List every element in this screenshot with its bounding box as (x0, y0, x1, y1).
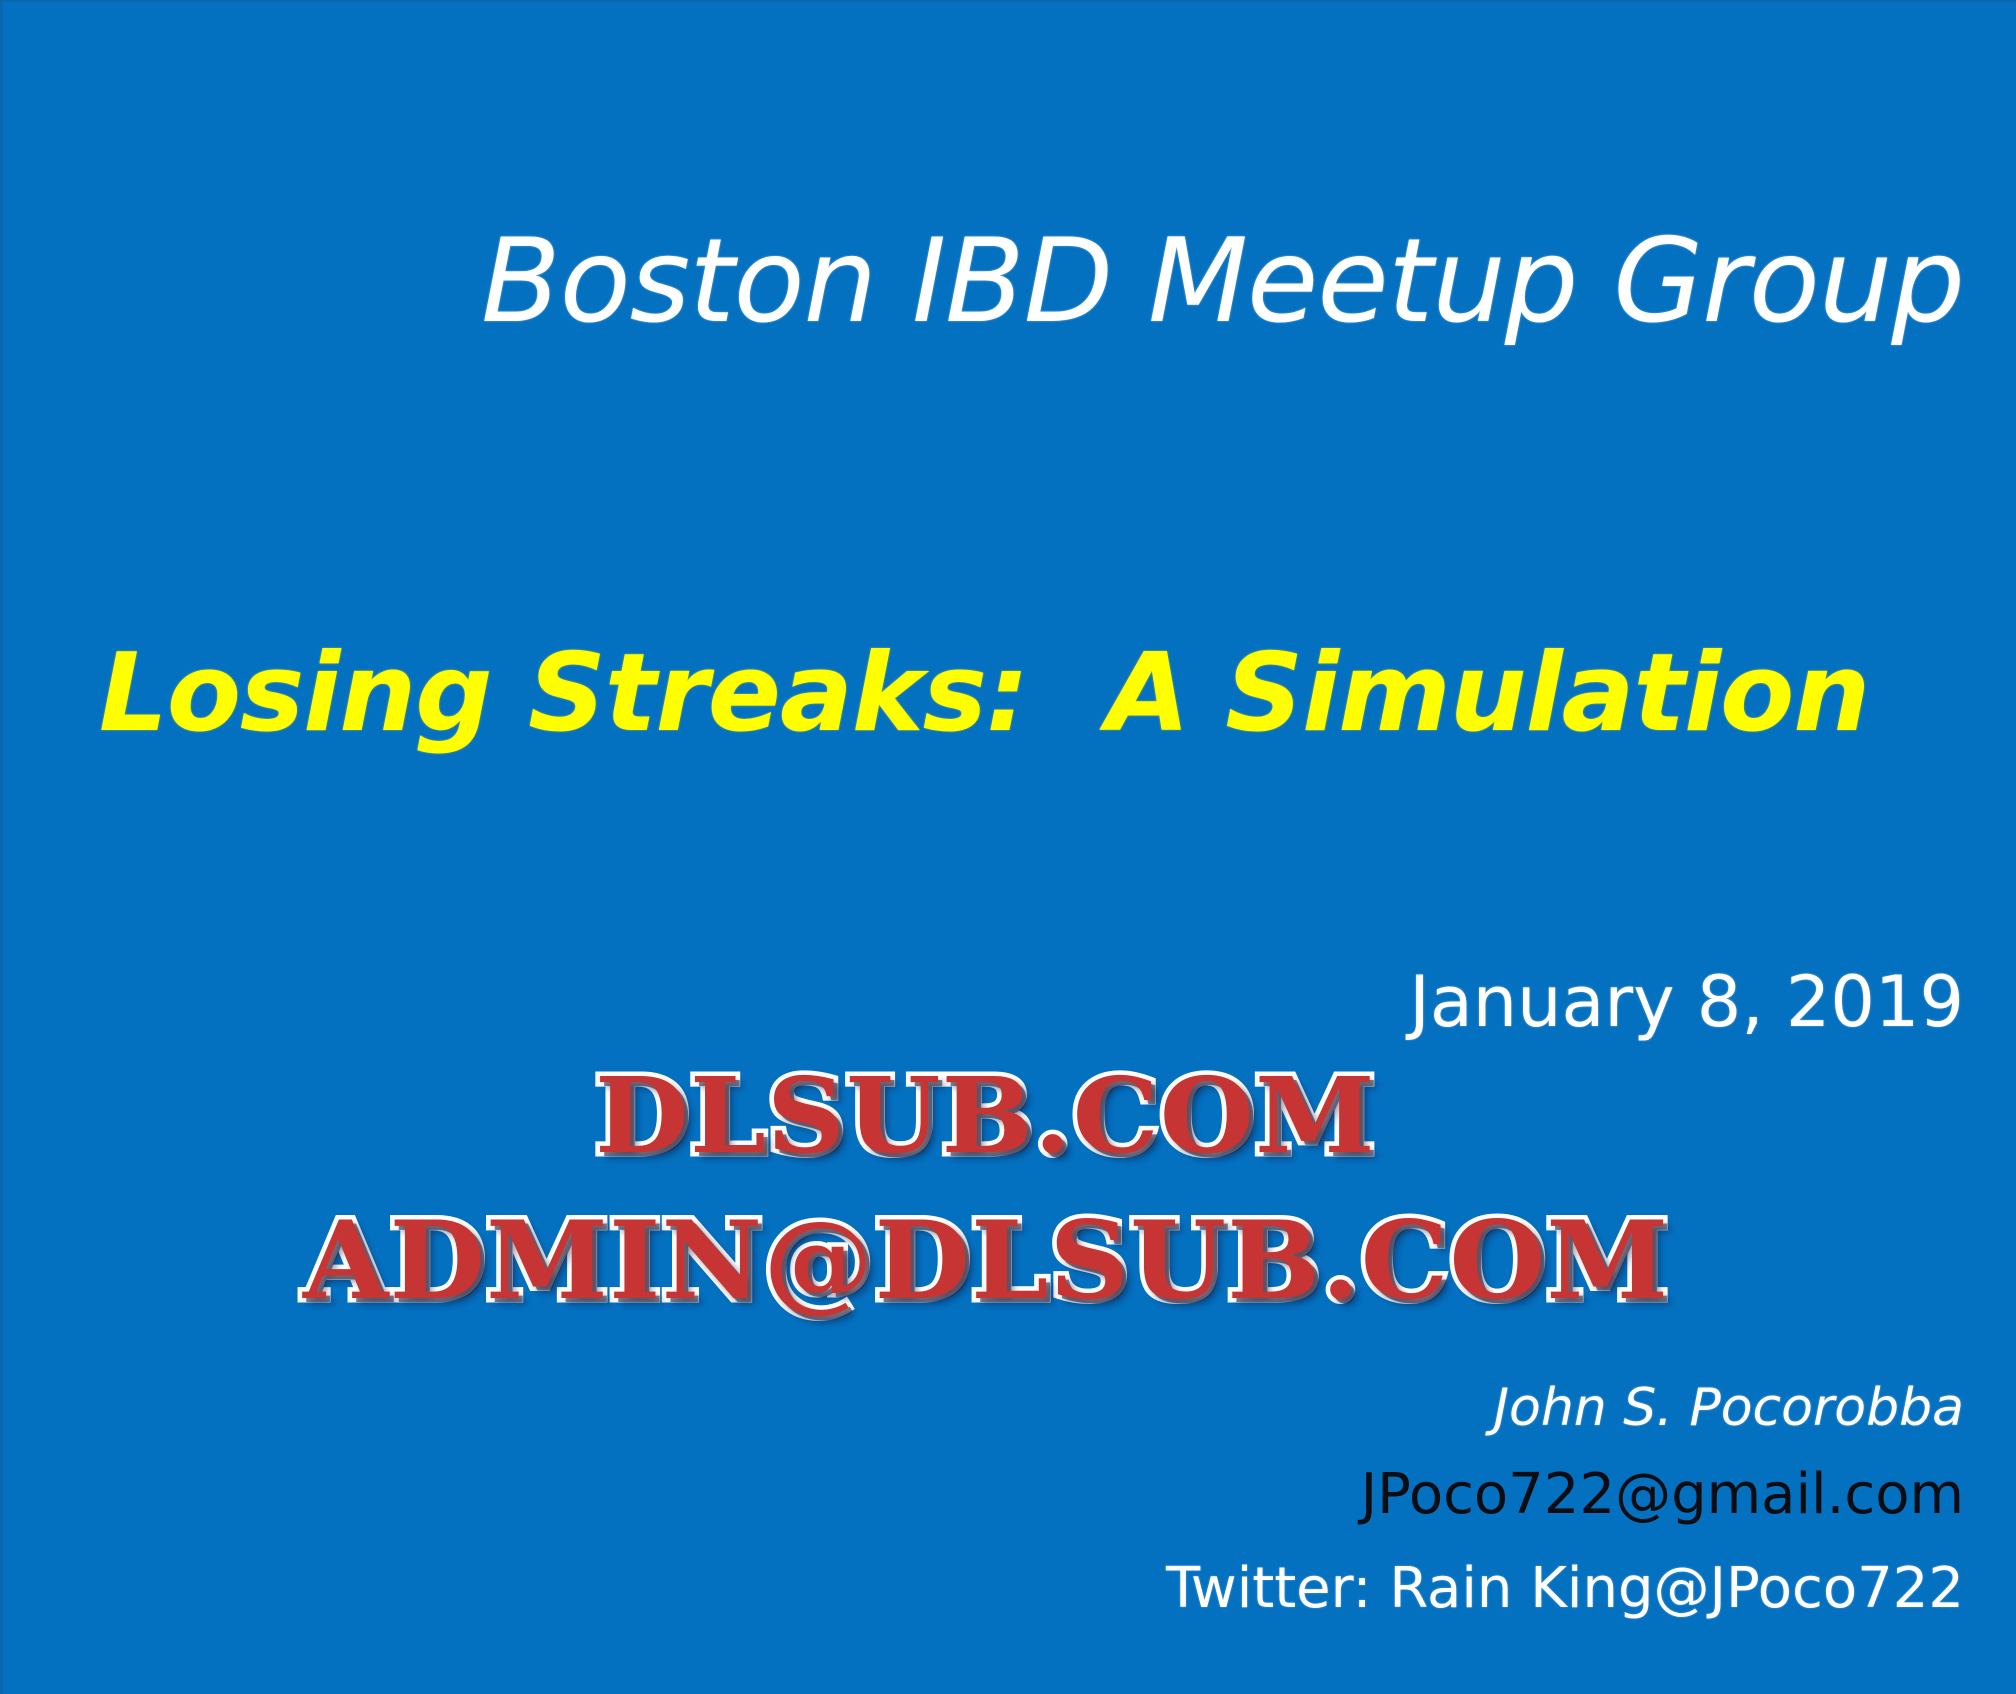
subtitle-part-two: A Simulation (1106, 631, 1869, 756)
slide-subtitle: Losing Streaks:A Simulation (99, 632, 1976, 756)
subtitle-part-one: Losing Streaks: (99, 631, 1028, 756)
presenter-email: JPoco722@gmail.com (1361, 1464, 1964, 1526)
presenter-name: John S. Pocorobba (1494, 1380, 1964, 1437)
presentation-date: January 8, 2019 (1409, 964, 1964, 1041)
presentation-slide: Boston IBD Meetup Group Losing Streaks:A… (0, 0, 2016, 1694)
presenter-twitter: Twitter: Rain King@JPoco722 (1166, 1558, 1964, 1620)
watermark-email: ADMIN@DLSUB.COM (303, 1198, 1669, 1324)
watermark-site: DLSUB.COM (595, 1054, 1376, 1177)
page-title: Boston IBD Meetup Group (3, 212, 1964, 351)
